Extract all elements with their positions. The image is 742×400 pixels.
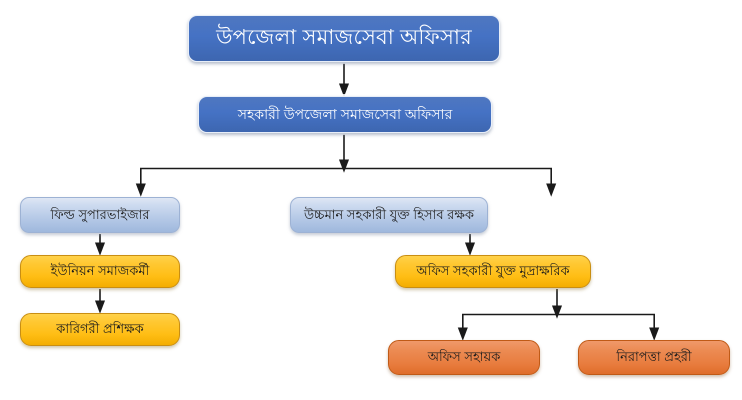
node-union-social-worker[interactable]: ইউনিয়ন সমাজকর্মী bbox=[20, 255, 180, 288]
node-security-guard[interactable]: নিরাপত্তা প্রহরী bbox=[578, 340, 730, 375]
node-assistant-upazila-social-services-officer[interactable]: সহকারী উপজেলা সমাজসেবা অফিসার bbox=[198, 96, 492, 133]
node-field-supervisor[interactable]: ফিল্ড সুপারভাইজার bbox=[20, 197, 180, 233]
node-label: উপজেলা সমাজসেবা অফিসার bbox=[216, 26, 472, 50]
node-technical-instructor[interactable]: কারিগরী প্রশিক্ষক bbox=[20, 313, 180, 346]
node-label: ইউনিয়ন সমাজকর্মী bbox=[51, 264, 150, 279]
node-office-support-staff[interactable]: অফিস সহায়ক bbox=[388, 340, 540, 375]
node-office-assistant-typist[interactable]: অফিস সহকারী যুক্ত মুদ্রাক্ষরিক bbox=[395, 255, 591, 288]
node-upazila-social-services-officer[interactable]: উপজেলা সমাজসেবা অফিসার bbox=[188, 15, 500, 62]
node-label: উচ্চমান সহকারী যুক্ত হিসাব রক্ষক bbox=[304, 208, 474, 223]
node-label: নিরাপত্তা প্রহরী bbox=[616, 350, 691, 365]
node-label: অফিস সহকারী যুক্ত মুদ্রাক্ষরিক bbox=[416, 264, 569, 279]
node-higher-grade-assistant-accountant[interactable]: উচ্চমান সহকারী যুক্ত হিসাব রক্ষক bbox=[290, 197, 488, 233]
node-label: কারিগরী প্রশিক্ষক bbox=[56, 322, 143, 337]
node-label: অফিস সহায়ক bbox=[428, 350, 501, 365]
node-label: ফিল্ড সুপারভাইজার bbox=[50, 208, 149, 223]
org-chart: উপজেলা সমাজসেবা অফিসার সহকারী উপজেলা সমা… bbox=[0, 0, 742, 400]
node-label: সহকারী উপজেলা সমাজসেবা অফিসার bbox=[238, 106, 453, 122]
